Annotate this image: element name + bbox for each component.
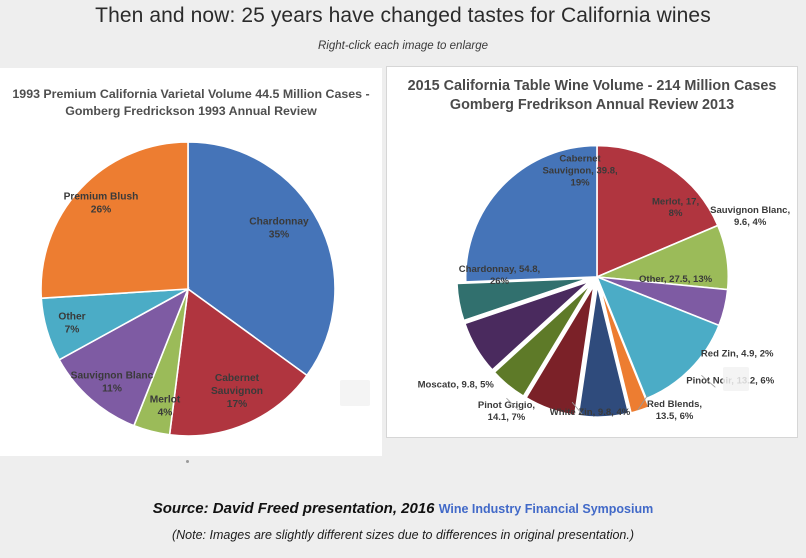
pie-label-other: Other, 27.5, 13% bbox=[639, 273, 713, 284]
pie-label-pinot-grigio: Pinot Grigio,14.1, 7% bbox=[478, 400, 536, 423]
pie-label-sauvignon-blanc: Sauvignon Blanc,9.6, 4% bbox=[710, 205, 790, 228]
source-text: Source: David Freed presentation, 2016 bbox=[153, 500, 435, 517]
stray-dot bbox=[186, 460, 189, 463]
chart-card-2015[interactable]: 2015 California Table Wine Volume - 214 … bbox=[386, 66, 798, 438]
pie-chart-1993[interactable]: Chardonnay35%CabernetSauvignon17%Merlot4… bbox=[0, 68, 382, 456]
chart-card-1993[interactable]: 1993 Premium California Varietal Volume … bbox=[0, 68, 382, 456]
slide-root: Then and now: 25 years have changed tast… bbox=[0, 0, 806, 558]
enlarge-instruction: Right-click each image to enlarge bbox=[0, 40, 806, 52]
watermark-block-2 bbox=[723, 367, 749, 391]
pie-label-red-blends: Red Blends,13.5, 6% bbox=[647, 399, 702, 422]
pie-label-white-zin: White Zin, 9.8, 4% bbox=[550, 407, 631, 418]
source-line: Source: David Freed presentation, 2016 W… bbox=[0, 500, 806, 517]
source-link[interactable]: Wine Industry Financial Symposium bbox=[439, 502, 654, 516]
pie-label-red-zin: Red Zin, 4.9, 2% bbox=[701, 348, 774, 359]
pie-label-moscato: Moscato, 9.8, 5% bbox=[418, 379, 495, 390]
pie-slice-premium-blush[interactable] bbox=[41, 142, 188, 298]
footer-note: (Note: Images are slightly different siz… bbox=[0, 528, 806, 542]
page-title: Then and now: 25 years have changed tast… bbox=[0, 4, 806, 28]
watermark-block bbox=[340, 380, 370, 406]
